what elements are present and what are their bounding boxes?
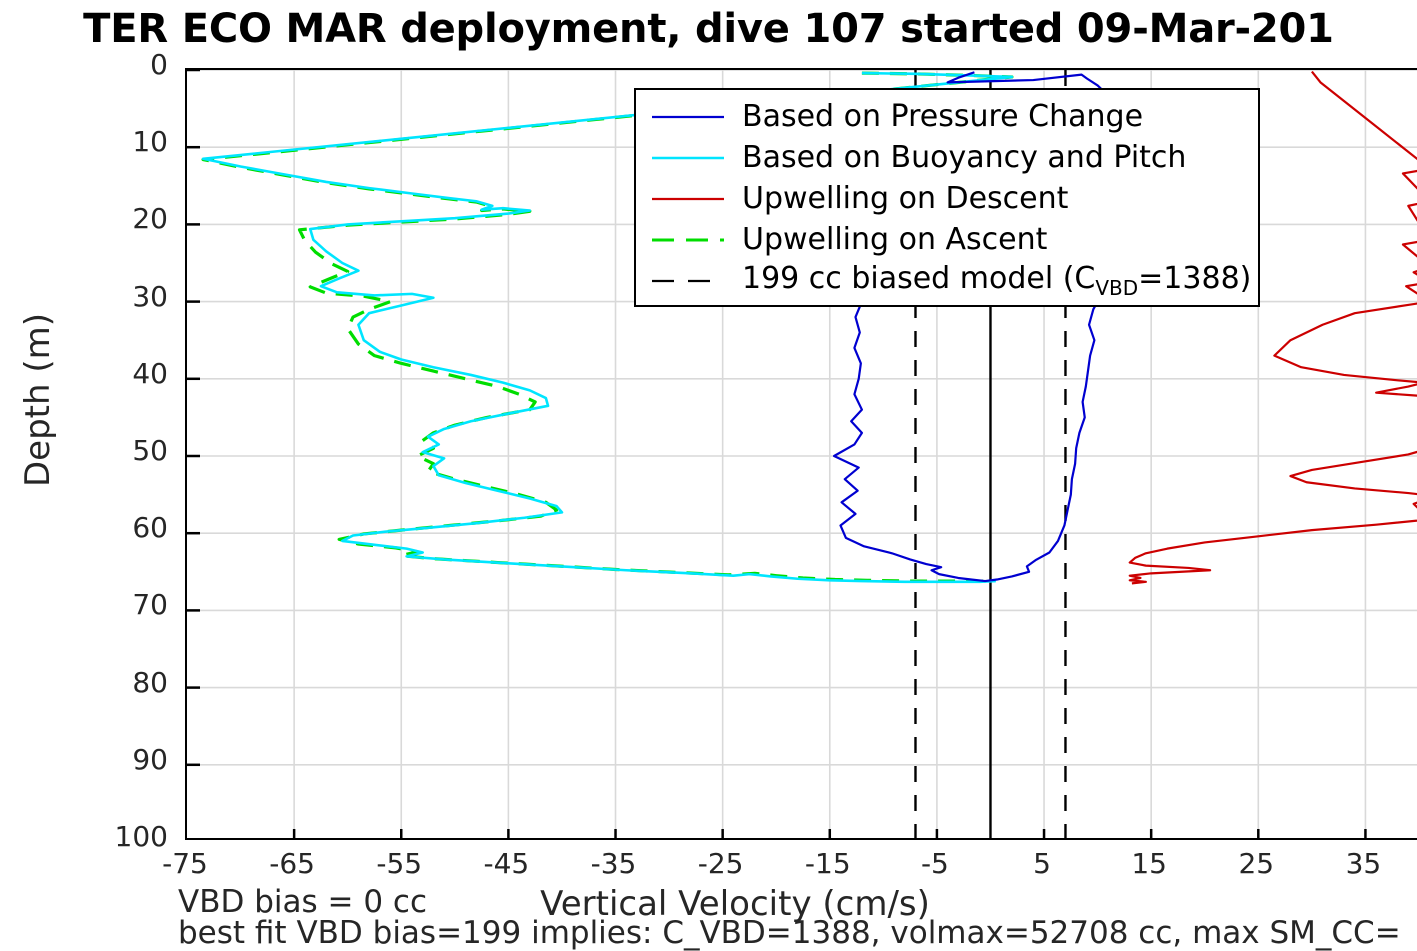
x-tick-label: -65 xyxy=(247,850,337,878)
page-title-text: TER ECO MAR deployment, dive 107 started… xyxy=(83,2,1334,56)
y-tick-label: 100 xyxy=(0,823,168,851)
y-tick-label: 80 xyxy=(0,669,168,697)
y-tick-label: 10 xyxy=(0,128,168,156)
y-tick-label: 90 xyxy=(0,746,168,774)
page-title: TER ECO MAR deployment, dive 107 started… xyxy=(0,2,1417,58)
x-tick-label: -15 xyxy=(783,850,873,878)
x-tick-label: 35 xyxy=(1318,850,1408,878)
x-tick-label: -75 xyxy=(140,850,230,878)
legend-label-model-tail: =1388) xyxy=(1138,261,1251,296)
legend-item[interactable]: 199 cc biased model (CVBD=1388) xyxy=(636,260,1258,301)
y-tick-label: 0 xyxy=(0,51,168,79)
legend-item[interactable]: Based on Buoyancy and Pitch xyxy=(636,137,1258,178)
legend-item[interactable]: Based on Pressure Change xyxy=(636,96,1258,137)
legend-label: Based on Buoyancy and Pitch xyxy=(742,143,1186,173)
x-tick-label: -45 xyxy=(461,850,551,878)
legend-label: Upwelling on Descent xyxy=(742,184,1068,214)
y-axis-title: Depth (m) xyxy=(18,190,58,610)
legend-label: Based on Pressure Change xyxy=(742,102,1143,132)
legend-item[interactable]: Upwelling on Descent xyxy=(636,178,1258,219)
legend-item[interactable]: Upwelling on Ascent xyxy=(636,219,1258,260)
x-tick-label: 5 xyxy=(997,850,1087,878)
legend-box[interactable]: Based on Pressure Change Based on Buoyan… xyxy=(634,88,1260,307)
legend-label-model: 199 cc biased model (CVBD=1388) xyxy=(742,264,1251,298)
legend-label: Upwelling on Ascent xyxy=(742,225,1047,255)
legend-label-model-subscript: VBD xyxy=(1095,276,1138,300)
best-fit-annotation: best fit VBD bias=199 implies: C_VBD=138… xyxy=(178,915,1417,951)
legend-label-model-main: 199 cc biased model (C xyxy=(742,261,1095,296)
x-tick-label: 15 xyxy=(1104,850,1194,878)
x-tick-label: -25 xyxy=(676,850,766,878)
x-tick-label: -55 xyxy=(354,850,444,878)
x-tick-label: -5 xyxy=(890,850,980,878)
x-tick-label: 25 xyxy=(1211,850,1301,878)
x-tick-label: -35 xyxy=(569,850,659,878)
